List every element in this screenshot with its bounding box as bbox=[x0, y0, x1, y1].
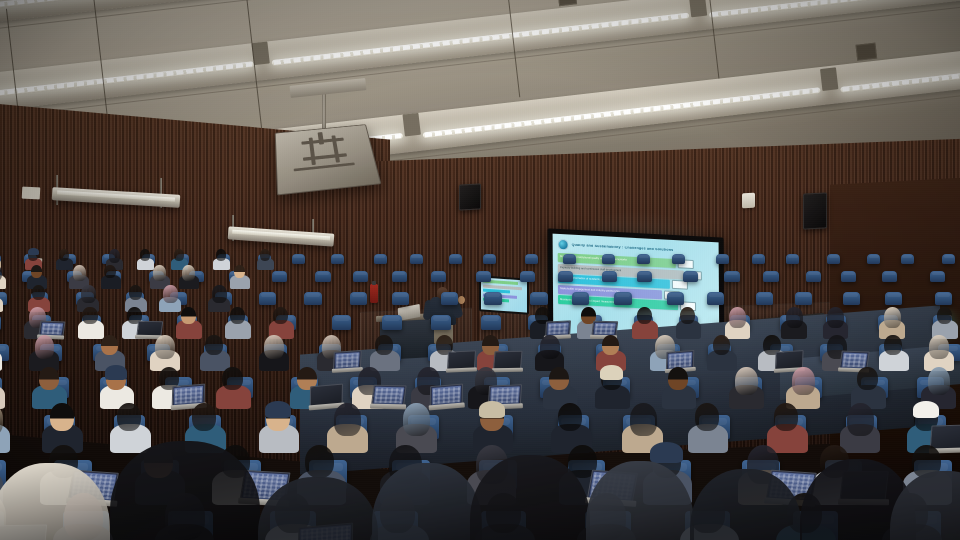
audience-member-cap bbox=[479, 401, 506, 418]
lecture-hall-seat bbox=[795, 292, 812, 305]
lecture-hall-seat bbox=[716, 254, 729, 264]
audience-member-head bbox=[192, 403, 216, 431]
audience-member-head bbox=[273, 307, 288, 324]
audience-member-head bbox=[32, 285, 45, 300]
lecture-hall-seat bbox=[431, 315, 451, 330]
audience-member-head bbox=[39, 367, 59, 390]
audience-member-head bbox=[668, 367, 688, 390]
audience-member-cap bbox=[28, 248, 39, 255]
audience-member-hijab bbox=[163, 285, 178, 303]
lecture-hall-seat bbox=[481, 315, 501, 330]
audience-member-head bbox=[774, 403, 798, 431]
lecture-hall-seat bbox=[483, 254, 496, 264]
audience-member-head bbox=[181, 307, 196, 324]
audience-member-head bbox=[637, 307, 652, 324]
audience-member-cap bbox=[600, 365, 623, 380]
lecture-hall-seat bbox=[558, 271, 573, 283]
lecture-hall-seat bbox=[259, 292, 276, 305]
lecture-hall-seat bbox=[304, 292, 321, 305]
audience-member-shoulders bbox=[0, 385, 5, 409]
audience-member-hijab bbox=[540, 335, 560, 359]
audience-member-head bbox=[174, 249, 184, 261]
lecture-hall-seat bbox=[602, 271, 617, 283]
audience-member-cap bbox=[913, 401, 940, 418]
audience-member-head bbox=[680, 307, 695, 324]
lecture-hall-seat bbox=[930, 271, 945, 283]
lecture-hall-seat bbox=[867, 254, 880, 264]
lecture-hall-seat bbox=[602, 254, 615, 264]
audience-member-head bbox=[695, 403, 719, 431]
audience-member-head bbox=[305, 445, 334, 478]
lecture-hall-seat bbox=[449, 254, 462, 264]
audience-member-head bbox=[101, 335, 119, 355]
wall-sensor bbox=[742, 193, 755, 209]
audience-member-head bbox=[375, 335, 393, 355]
lecture-hall-seat bbox=[410, 254, 423, 264]
ceiling-air-vent bbox=[855, 43, 877, 61]
lecture-hall-seat bbox=[841, 271, 856, 283]
fixture-label bbox=[22, 187, 41, 200]
lecture-hall-seat bbox=[572, 292, 589, 305]
laptop-keyboard bbox=[429, 403, 465, 411]
laptop-keyboard bbox=[446, 367, 477, 372]
audience-member-hijab bbox=[81, 285, 96, 303]
laptop-keyboard bbox=[370, 404, 406, 409]
laptop-keyboard bbox=[492, 367, 523, 372]
lecture-hall-seat bbox=[476, 271, 491, 283]
audience-member-hijab bbox=[153, 265, 166, 281]
lecture-hall-seat bbox=[315, 271, 330, 283]
attendee-laptop bbox=[494, 351, 521, 373]
lecture-hall-photo: Quality and Sustainability : Challenges … bbox=[0, 0, 960, 540]
lecture-hall-seat bbox=[756, 292, 773, 305]
wall-speaker bbox=[459, 183, 481, 210]
lecture-hall-seat bbox=[786, 254, 799, 264]
audience-member-head bbox=[937, 307, 952, 324]
audience-member-hijab bbox=[928, 367, 951, 395]
lecture-hall-seat bbox=[637, 271, 652, 283]
audience-member-hijab bbox=[827, 307, 844, 328]
lecture-hall-seat bbox=[331, 254, 344, 264]
lecture-hall-seat bbox=[431, 271, 446, 283]
lecture-hall-seat bbox=[942, 254, 955, 264]
audience-member-hijab bbox=[264, 335, 284, 359]
audience-member-hijab bbox=[735, 367, 758, 395]
audience-member-head bbox=[31, 265, 43, 278]
lecture-hall-seat bbox=[272, 271, 287, 283]
audience-member-head bbox=[117, 403, 141, 431]
lecture-hall-seat bbox=[827, 254, 840, 264]
audience-member-head bbox=[857, 367, 877, 390]
audience-member-hijab bbox=[212, 285, 227, 303]
lecture-hall-seat bbox=[0, 315, 1, 330]
lecture-hall-seat bbox=[530, 292, 547, 305]
audience-member-hijab bbox=[729, 307, 746, 328]
attendee-laptop bbox=[137, 320, 160, 339]
attendee-laptop bbox=[333, 350, 361, 373]
audience-member-cap bbox=[105, 365, 128, 380]
audience-member-head bbox=[884, 335, 902, 355]
lecture-hall-seat bbox=[882, 271, 897, 283]
audience-member-hijab bbox=[929, 335, 949, 359]
audience-member-cap bbox=[265, 401, 292, 418]
audience-member-cap bbox=[650, 442, 682, 463]
ceiling-air-vent bbox=[557, 0, 577, 6]
audience-member-hijab bbox=[155, 335, 175, 359]
lecture-hall-seat bbox=[637, 254, 650, 264]
lecture-hall-seat bbox=[683, 271, 698, 283]
lecture-hall-seat bbox=[667, 292, 684, 305]
lecture-hall-seat bbox=[672, 254, 685, 264]
audience-member-hijab bbox=[792, 367, 815, 395]
audience-member-head bbox=[104, 265, 116, 278]
lecture-hall-seat bbox=[901, 254, 914, 264]
lecture-hall-seat bbox=[484, 292, 501, 305]
attendee-laptop bbox=[429, 384, 462, 411]
audience-member-head bbox=[216, 249, 226, 261]
audience-member-head bbox=[59, 249, 69, 261]
audience-member-head bbox=[205, 335, 223, 355]
lecture-hall-seat bbox=[382, 315, 402, 330]
lecture-hall-seat bbox=[885, 292, 902, 305]
seated-audience bbox=[0, 245, 960, 540]
lecture-hall-seat bbox=[763, 271, 778, 283]
lecture-hall-seat bbox=[520, 271, 535, 283]
lecture-hall-seat bbox=[392, 292, 409, 305]
audience-member-head bbox=[129, 285, 142, 300]
wall-speaker bbox=[803, 192, 827, 229]
audience-member-hijab bbox=[884, 307, 901, 328]
audience-member-head bbox=[558, 403, 582, 431]
audience-member-hijab bbox=[109, 249, 120, 263]
lecture-hall-seat bbox=[752, 254, 765, 264]
lecture-hall-seat bbox=[843, 292, 860, 305]
audience-member-head bbox=[50, 403, 74, 431]
lecture-hall-seat bbox=[392, 271, 407, 283]
audience-member-hijab bbox=[334, 403, 361, 436]
audience-member-head bbox=[713, 335, 731, 355]
audience-member-hijab bbox=[847, 403, 874, 436]
attendee-laptop bbox=[372, 385, 403, 410]
lecture-hall-seat bbox=[935, 292, 952, 305]
audience-member-head bbox=[549, 367, 569, 390]
lecture-hall-seat bbox=[707, 292, 724, 305]
lecture-hall-seat bbox=[332, 315, 352, 330]
audience-member-head bbox=[230, 307, 245, 324]
audience-member-head bbox=[82, 307, 97, 324]
lecture-hall-seat bbox=[724, 271, 739, 283]
audience-member-head bbox=[260, 249, 270, 261]
lecture-hall-seat bbox=[441, 292, 458, 305]
audience-member-hijab bbox=[630, 403, 657, 436]
lecture-hall-seat bbox=[350, 292, 367, 305]
lecture-hall-seat bbox=[525, 254, 538, 264]
audience-member-head bbox=[602, 335, 620, 355]
lecture-hall-seat bbox=[806, 271, 821, 283]
audience-member-head bbox=[140, 249, 150, 261]
lecture-hall-seat bbox=[292, 254, 305, 264]
audience-member-hijab bbox=[182, 265, 195, 281]
ceiling-suspended-display bbox=[275, 124, 382, 195]
audience-member-hijab bbox=[35, 335, 55, 359]
lecture-hall-seat bbox=[353, 271, 368, 283]
audience-member-hijab bbox=[73, 265, 86, 281]
audience-member-head bbox=[222, 367, 242, 390]
lecture-hall-seat bbox=[374, 254, 387, 264]
audience-member-hijab bbox=[786, 307, 803, 328]
lecture-hall-seat bbox=[563, 254, 576, 264]
lecture-hall-seat bbox=[614, 292, 631, 305]
attendee-laptop bbox=[447, 350, 474, 372]
audience-member-hijab bbox=[403, 403, 430, 436]
